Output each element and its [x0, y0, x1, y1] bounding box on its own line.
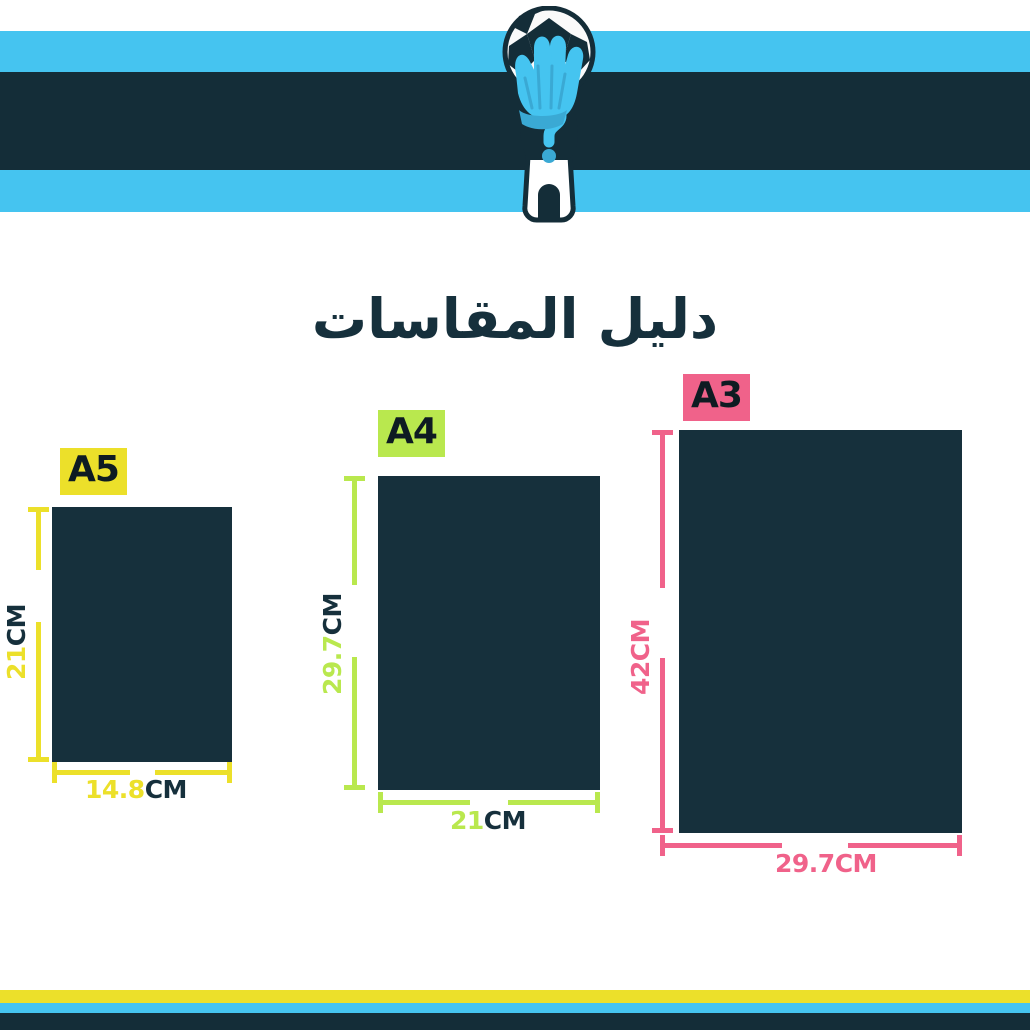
dimension-line-gap-vertical-a5 — [34, 570, 43, 622]
size-diagram-a5: A5 21CM 14.8CM — [0, 440, 260, 810]
dimension-cap-right-a5 — [227, 762, 232, 783]
dimension-cap-bottom-a3 — [652, 828, 673, 833]
size-tag-a4: A4 — [378, 410, 445, 457]
dimension-cap-bottom-a4 — [344, 785, 365, 790]
paper-rect-a4 — [378, 476, 600, 790]
dimension-line-gap-vertical-a4 — [350, 585, 359, 657]
width-value-a4: 21 — [450, 806, 484, 835]
dimension-label-width-a3: 29.7CM — [775, 849, 877, 878]
header-banner — [0, 0, 1030, 240]
dimension-cap-right-a4 — [595, 792, 600, 813]
dimension-line-horizontal-right-a3 — [848, 843, 962, 848]
dimension-cap-left-a3 — [660, 835, 665, 856]
world-cup-trophy-goalkeeper-glove-logo — [495, 6, 603, 228]
dimension-line-horizontal-left-a3 — [660, 843, 782, 848]
size-guide-infographic: دليل المقاسات A5 21CM 14.8CM A4 29 — [0, 0, 1030, 1030]
dimension-label-height-a5: 21CM — [2, 604, 31, 680]
width-unit-a4: CM — [484, 806, 526, 835]
width-unit-a3: CM — [835, 849, 877, 878]
height-unit-a4: CM — [318, 593, 347, 635]
dimension-label-height-a3: 42CM — [626, 619, 655, 695]
footer-stripe-yellow — [0, 990, 1030, 1003]
footer-stripe-cyan — [0, 1003, 1030, 1013]
height-unit-a5: CM — [2, 604, 31, 646]
paper-rect-a5 — [52, 507, 232, 762]
dimension-label-width-a4: 21CM — [450, 806, 526, 835]
height-unit-a3: CM — [626, 619, 655, 661]
footer-stripes — [0, 990, 1030, 1030]
size-diagram-a3: A3 42CM 29.7CM — [620, 360, 1030, 880]
dimension-cap-right-a3 — [957, 835, 962, 856]
dimension-cap-left-a4 — [378, 792, 383, 813]
width-unit-a5: CM — [145, 775, 187, 804]
dimension-cap-top-a3 — [652, 430, 673, 435]
dimension-cap-top-a5 — [28, 507, 49, 512]
dimension-line-vertical-a5 — [36, 507, 41, 762]
dimension-line-horizontal-left-a4 — [378, 800, 470, 805]
height-value-a4: 29.7 — [318, 635, 347, 695]
width-value-a5: 14.8 — [85, 775, 145, 804]
dimension-cap-top-a4 — [344, 476, 365, 481]
size-tag-a5: A5 — [60, 448, 127, 495]
height-value-a3: 42 — [626, 661, 655, 695]
dimension-line-gap-vertical-a3 — [658, 588, 667, 658]
size-diagram-a4: A4 29.7CM 21CM — [330, 400, 630, 840]
height-value-a5: 21 — [2, 646, 31, 680]
dimension-cap-bottom-a5 — [28, 757, 49, 762]
page-title: دليل المقاسات — [0, 288, 1030, 351]
width-value-a3: 29.7 — [775, 849, 835, 878]
paper-rect-a3 — [679, 430, 962, 833]
dimension-label-height-a4: 29.7CM — [318, 593, 347, 695]
dimension-cap-left-a5 — [52, 762, 57, 783]
dimension-line-horizontal-right-a4 — [508, 800, 600, 805]
footer-stripe-navy — [0, 1013, 1030, 1030]
size-tag-a3: A3 — [683, 374, 750, 421]
dimension-label-width-a5: 14.8CM — [85, 775, 187, 804]
